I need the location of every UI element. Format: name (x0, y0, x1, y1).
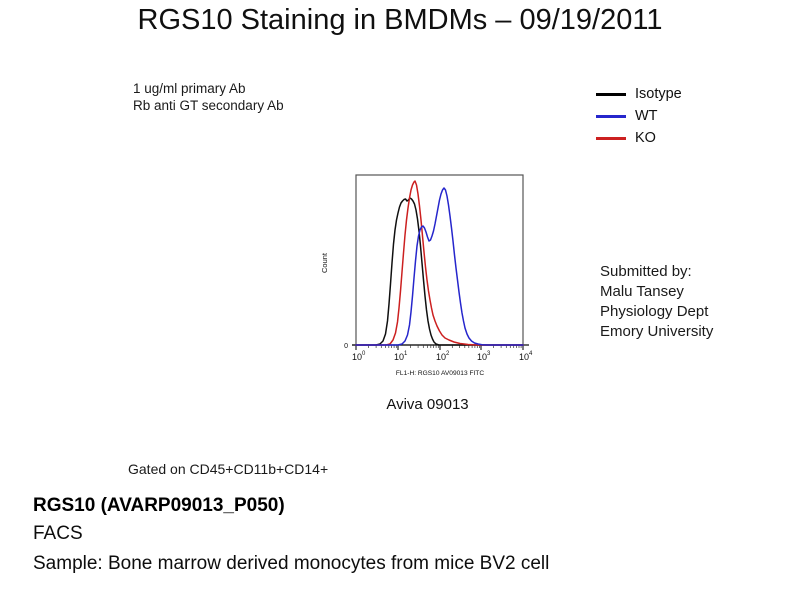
submitted-by-heading: Submitted by: (600, 262, 713, 282)
sample-description: Sample: Bone marrow derived monocytes fr… (33, 549, 793, 579)
x-tick-label-2: 10 (436, 352, 446, 362)
x-axis-tick-labels: 10 0 10 1 10 2 10 3 10 4 (352, 351, 533, 362)
flow-cytometry-histogram: 0 Count (310, 168, 545, 418)
submitted-by-block: Submitted by: Malu Tansey Physiology Dep… (600, 262, 713, 342)
slide-canvas: RGS10 Staining in BMDMs – 09/19/2011 1 u… (0, 0, 800, 600)
x-tick-label-4: 10 (519, 352, 529, 362)
x-tick-label-0: 10 (352, 352, 362, 362)
legend-swatch-isotype (596, 93, 626, 96)
x-tick-label-1: 10 (394, 352, 404, 362)
method-label: FACS (33, 519, 793, 549)
legend-label-ko: KO (635, 130, 656, 146)
legend-item-isotype: Isotype (596, 83, 682, 105)
x-tick-exp-3: 3 (487, 351, 491, 357)
y-axis-label: Count (320, 252, 329, 273)
target-name: RGS10 (AVARP09013_P050) (33, 492, 793, 519)
legend-label-isotype: Isotype (635, 86, 682, 102)
x-tick-label-3: 10 (477, 352, 487, 362)
legend-item-ko: KO (596, 127, 682, 149)
chart-legend: Isotype WT KO (596, 83, 682, 149)
y-tick-label-0: 0 (344, 343, 348, 350)
gating-note: Gated on CD45+CD11b+CD14+ (128, 461, 328, 477)
submitted-by-dept: Physiology Dept (600, 302, 713, 322)
x-tick-exp-2: 2 (446, 351, 450, 357)
legend-swatch-ko (596, 137, 626, 140)
x-axis-label: FL1-H: RGS10 AV09013 FITC (396, 370, 484, 377)
legend-swatch-wt (596, 115, 626, 118)
figure-caption: Aviva 09013 (310, 396, 545, 413)
page-title: RGS10 Staining in BMDMs – 09/19/2011 (110, 2, 690, 38)
x-tick-exp-4: 4 (529, 351, 533, 357)
x-tick-exp-0: 0 (362, 351, 366, 357)
bottom-text-block: RGS10 (AVARP09013_P050) FACS Sample: Bon… (33, 492, 793, 579)
submitted-by-name: Malu Tansey (600, 282, 713, 302)
x-tick-exp-1: 1 (404, 351, 408, 357)
legend-item-wt: WT (596, 105, 682, 127)
antibody-note-line-1: 1 ug/ml primary Ab (133, 80, 284, 97)
histogram-svg: 0 Count (310, 168, 545, 418)
submitted-by-institution: Emory University (600, 322, 713, 342)
antibody-note: 1 ug/ml primary Ab Rb anti GT secondary … (133, 80, 284, 114)
antibody-note-line-2: Rb anti GT secondary Ab (133, 97, 284, 114)
legend-label-wt: WT (635, 108, 658, 124)
